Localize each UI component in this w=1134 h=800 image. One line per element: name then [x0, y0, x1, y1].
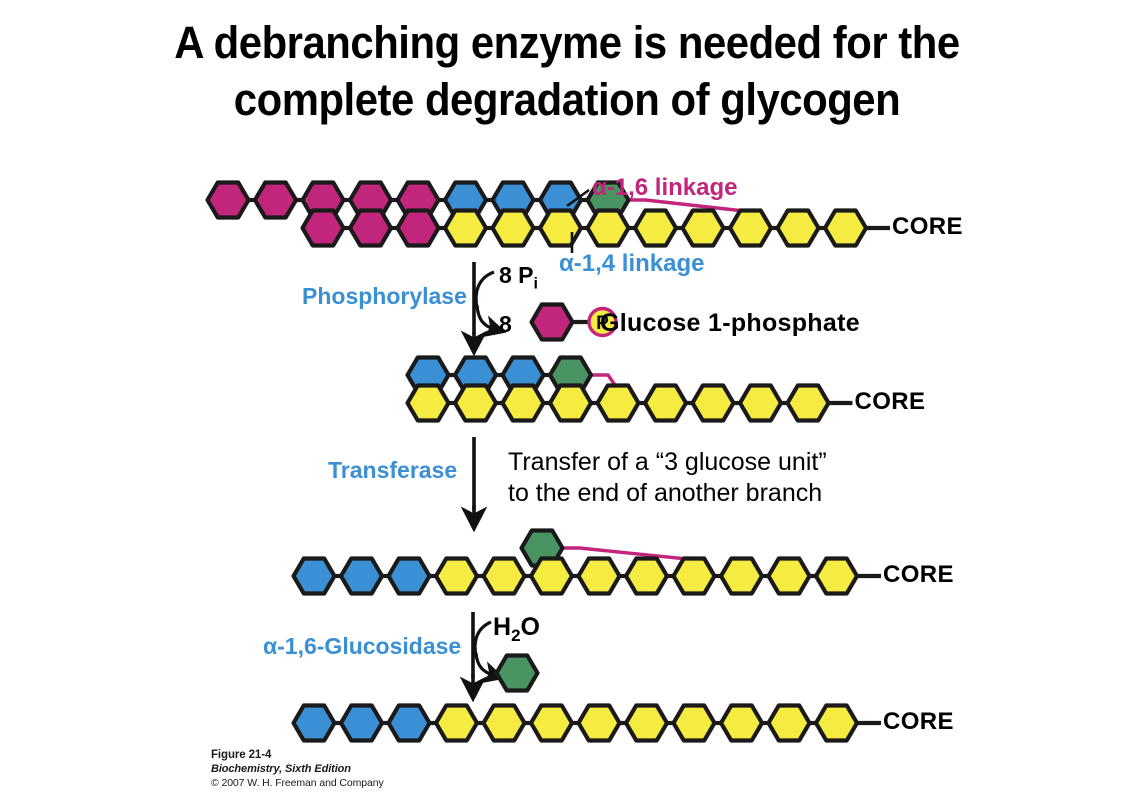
hexose-yellow [693, 386, 734, 421]
glucosidase-substrate-curve [475, 622, 491, 656]
hexose-yellow [683, 211, 724, 246]
hexose-yellow [645, 386, 686, 421]
released-glucose-hexose [497, 656, 538, 691]
phosphorylase-label: Phosphorylase [302, 283, 467, 310]
hexose-yellow [493, 211, 534, 246]
hexose-yellow [550, 386, 591, 421]
hexose-yellow [816, 559, 857, 594]
glucose-1-phosphate-label: Glucose 1-phosphate [600, 309, 860, 338]
caption-book-title: Biochemistry, Sixth Edition [211, 762, 384, 776]
hexose-yellow [769, 559, 810, 594]
hexose-yellow [626, 706, 667, 741]
glucosidase-arrow-group [473, 612, 493, 688]
h2o-subscript: 2 [511, 626, 520, 645]
stage-1-branched-glycogen-main-row [303, 211, 891, 246]
hexose-yellow [540, 211, 581, 246]
stage-2-after-phosphorylase-main-row [408, 386, 853, 421]
hexose-yellow [484, 706, 525, 741]
transferase-label: Transferase [328, 457, 457, 484]
hexose-yellow [531, 559, 572, 594]
figure-caption: Figure 21-4 Biochemistry, Sixth Edition … [211, 748, 384, 790]
pi-substrate-label: 8 Pi [499, 262, 538, 294]
caption-copyright: © 2007 W. H. Freeman and Company [211, 776, 384, 790]
core-label: CORE [883, 708, 954, 736]
hexose-yellow [825, 211, 866, 246]
product-count-label: 8 [499, 311, 512, 338]
hexose-magenta [398, 211, 439, 246]
hexose-blue [294, 706, 335, 741]
hexose-magenta [532, 305, 573, 340]
transfer-description-text: Transfer of a “3 glucose unit”to the end… [508, 447, 827, 509]
core-label: CORE [892, 213, 963, 241]
alpha-1-6-linkage-label: α-1,6 linkage [592, 174, 737, 202]
alpha-1-4-linkage-label: α-1,4 linkage [559, 250, 704, 278]
hexose-yellow [588, 211, 629, 246]
hexose-yellow [674, 559, 715, 594]
alpha-1-6-glucosidase-label: α-1,6-Glucosidase [263, 633, 461, 660]
hexose-yellow [455, 386, 496, 421]
hexose-yellow [531, 706, 572, 741]
h2o-o: O [521, 613, 540, 641]
hexose-blue [341, 559, 382, 594]
hexose-yellow [503, 386, 544, 421]
core-label: CORE [883, 561, 954, 589]
pi-subscript: i [534, 276, 538, 293]
hexose-yellow [445, 211, 486, 246]
caption-figure-number: Figure 21-4 [211, 748, 384, 762]
hexose-yellow [778, 211, 819, 246]
stage-3-after-transferase-main-row [294, 559, 882, 594]
hexose-yellow [408, 386, 449, 421]
hexose-yellow [579, 559, 620, 594]
glucosidase-product-curve [476, 653, 493, 675]
hexose-blue [341, 706, 382, 741]
hexose-green [497, 656, 538, 691]
hexose-yellow [721, 559, 762, 594]
hexose-yellow [816, 706, 857, 741]
hexose-yellow [788, 386, 829, 421]
stage-4-after-glucosidase-main-row [294, 706, 882, 741]
hexose-yellow [769, 706, 810, 741]
hexose-magenta [350, 211, 391, 246]
hexose-yellow [635, 211, 676, 246]
glycogen-degradation-diagram: P [0, 0, 1134, 800]
hexose-yellow [674, 706, 715, 741]
transfer-text-line-2: to the end of another branch [508, 479, 822, 507]
hexose-yellow [579, 706, 620, 741]
hexose-yellow [721, 706, 762, 741]
hexose-blue [389, 706, 430, 741]
water-label: H2O [493, 613, 540, 646]
phosphorylase-arrow-group [474, 262, 494, 342]
hexose-yellow [730, 211, 771, 246]
hexose-yellow [598, 386, 639, 421]
pi-count-text: 8 P [499, 262, 534, 288]
h2o-h: H [493, 613, 511, 641]
hexose-yellow [436, 559, 477, 594]
hexose-yellow [436, 706, 477, 741]
transfer-text-line-1: Transfer of a “3 glucose unit” [508, 448, 827, 476]
phosphorylase-product-curve [477, 305, 494, 329]
hexose-yellow [626, 559, 667, 594]
hexose-magenta [303, 211, 344, 246]
hexose-yellow [484, 559, 525, 594]
hexose-magenta [255, 183, 296, 218]
hexose-blue [389, 559, 430, 594]
core-label: CORE [855, 388, 926, 416]
alpha-1-6-branch-linkage-bond [561, 548, 693, 560]
hexose-blue [294, 559, 335, 594]
hexose-magenta [208, 183, 249, 218]
slide-canvas: A debranching enzyme is needed for theco… [0, 0, 1134, 800]
hexose-yellow [740, 386, 781, 421]
phosphorylase-substrate-curve [476, 272, 494, 308]
